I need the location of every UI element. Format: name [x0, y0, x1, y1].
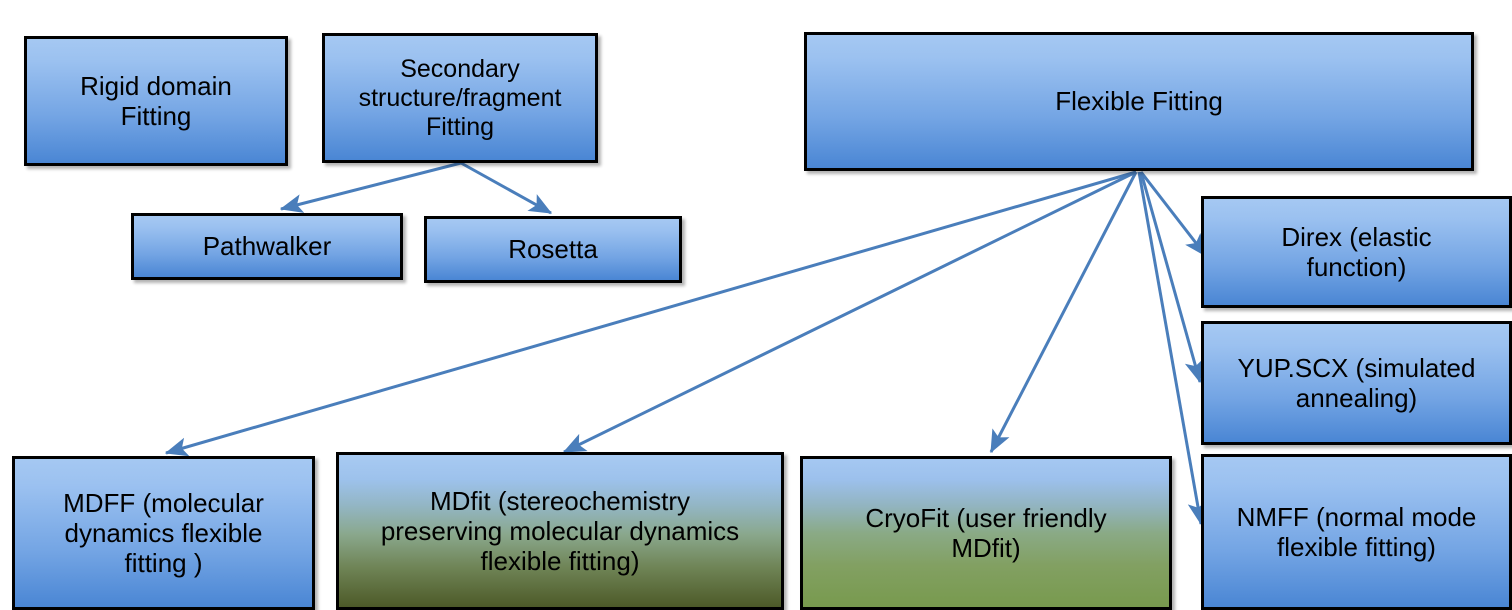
node-label-rigid-domain-fitting: Rigid domain Fitting	[72, 71, 240, 131]
node-label-rosetta: Rosetta	[500, 234, 606, 264]
node-nmff[interactable]: NMFF (normal mode flexible fitting)	[1201, 454, 1512, 610]
arrow-flexible-to-mdfit	[564, 172, 1136, 452]
node-yup-scx[interactable]: YUP.SCX (simulated annealing)	[1201, 321, 1512, 445]
node-label-mdff: MDFF (molecular dynamics flexible fittin…	[55, 488, 272, 578]
node-label-yup-scx: YUP.SCX (simulated annealing)	[1230, 353, 1484, 413]
node-flexible-fitting[interactable]: Flexible Fitting	[804, 32, 1474, 171]
node-rosetta[interactable]: Rosetta	[424, 216, 682, 283]
node-label-nmff: NMFF (normal mode flexible fitting)	[1229, 502, 1485, 562]
node-rigid-domain-fitting[interactable]: Rigid domain Fitting	[24, 36, 288, 166]
arrow-secondary-to-pathwalker	[281, 163, 461, 209]
node-mdfit[interactable]: MDfit (stereochemistry preserving molecu…	[336, 452, 784, 610]
node-cryofit[interactable]: CryoFit (user friendly MDfit)	[800, 456, 1172, 610]
node-label-cryofit: CryoFit (user friendly MDfit)	[857, 503, 1114, 563]
node-secondary-structure-fragment-fitting[interactable]: Secondary structure/fragment Fitting	[322, 33, 598, 163]
node-label-flexible-fitting: Flexible Fitting	[1047, 86, 1231, 116]
node-mdff[interactable]: MDFF (molecular dynamics flexible fittin…	[12, 456, 315, 610]
node-label-secondary-structure-fragment-fitting: Secondary structure/fragment Fitting	[351, 55, 570, 142]
node-label-mdfit: MDfit (stereochemistry preserving molecu…	[373, 486, 747, 576]
arrow-flexible-to-direx	[1141, 172, 1206, 256]
arrow-secondary-to-rosetta	[461, 163, 551, 213]
node-pathwalker[interactable]: Pathwalker	[131, 213, 403, 280]
diagram-canvas: Rigid domain FittingSecondary structure/…	[0, 0, 1512, 610]
node-direx[interactable]: Direx (elastic function)	[1201, 196, 1512, 308]
arrow-flexible-to-cryofit	[991, 172, 1136, 452]
arrow-flexible-to-yupscx	[1141, 172, 1200, 382]
node-label-pathwalker: Pathwalker	[195, 231, 340, 261]
node-label-direx: Direx (elastic function)	[1273, 222, 1439, 282]
